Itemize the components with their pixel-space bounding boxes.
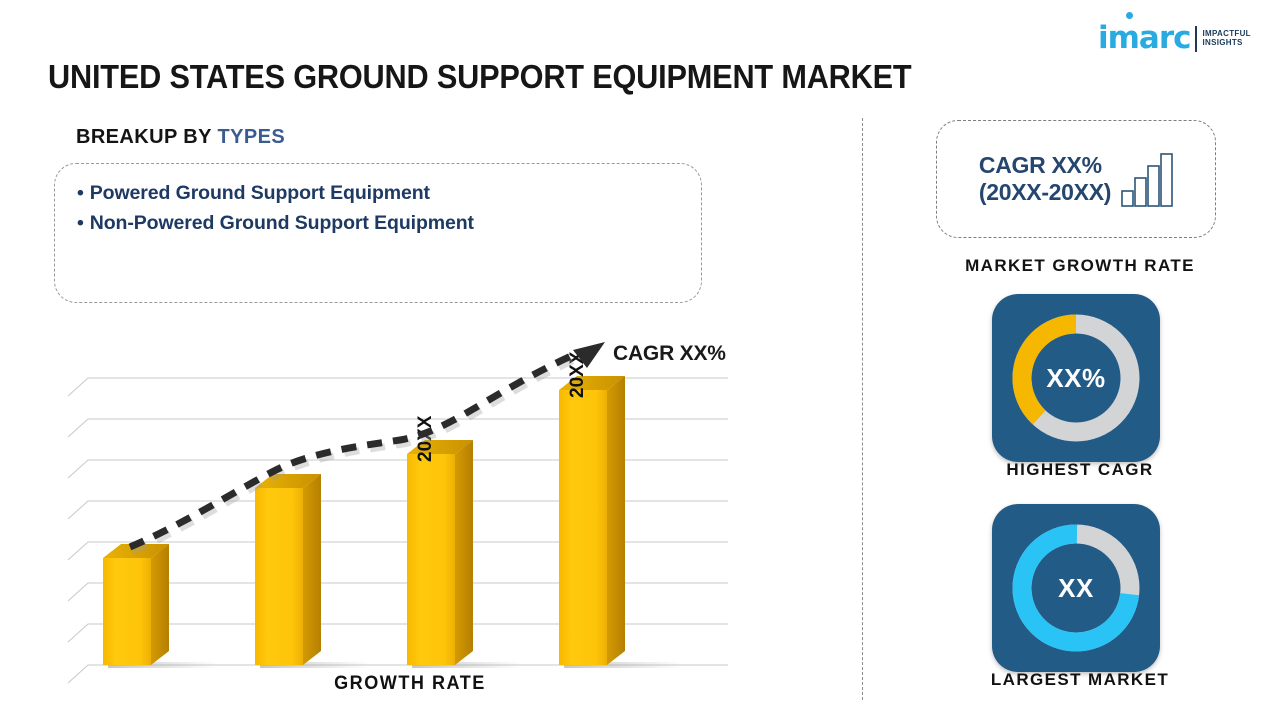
highest-cagr-label: HIGHEST CAGR xyxy=(880,460,1280,480)
chart-bar xyxy=(255,474,321,665)
types-list-box: •Powered Ground Support Equipment •Non-P… xyxy=(54,163,702,303)
highest-cagr-tile: XX% xyxy=(992,294,1160,462)
largest-market-value: XX xyxy=(992,504,1160,672)
cagr-card-text: CAGR XX% (20XX-20XX) xyxy=(979,152,1111,206)
market-growth-rate-label: MARKET GROWTH RATE xyxy=(880,256,1280,276)
largest-market-label: LARGEST MARKET xyxy=(880,670,1280,690)
chart-xlabel: GROWTH RATE xyxy=(78,673,743,695)
breakup-heading-static: BREAKUP BY xyxy=(76,126,217,148)
highest-cagr-value: XX% xyxy=(992,294,1160,462)
bullet-icon: • xyxy=(77,182,84,204)
page-title: UNITED STATES GROUND SUPPORT EQUIPMENT M… xyxy=(48,58,978,96)
cagr-card-line-2: (20XX-20XX) xyxy=(979,179,1111,206)
cagr-card: CAGR XX% (20XX-20XX) xyxy=(936,120,1216,238)
vertical-divider xyxy=(862,118,863,700)
list-item-label: Non-Powered Ground Support Equipment xyxy=(90,212,474,234)
chart-bar: 20XX xyxy=(559,351,625,665)
chart-svg: 20XX 20XX xyxy=(60,330,760,710)
chart-bar xyxy=(103,544,169,665)
bar-chart-icon xyxy=(1121,151,1173,207)
chart-bar: 20XX xyxy=(407,415,473,665)
breakup-heading: BREAKUP BY TYPES xyxy=(76,126,285,149)
list-item: •Powered Ground Support Equipment xyxy=(77,178,679,208)
cagr-card-line-1: CAGR XX% xyxy=(979,152,1111,179)
infographic-page: imarc IMPACTFUL INSIGHTS UNITED STATES G… xyxy=(0,0,1280,720)
breakup-heading-highlight: TYPES xyxy=(217,126,285,148)
list-item-label: Powered Ground Support Equipment xyxy=(90,182,430,204)
chart-trend-arrow xyxy=(130,342,605,551)
chart-cagr-annotation: CAGR XX% xyxy=(613,342,726,366)
right-panel: CAGR XX% (20XX-20XX) MARKET GROWTH RATE … xyxy=(880,0,1280,720)
list-item: •Non-Powered Ground Support Equipment xyxy=(77,208,679,238)
growth-rate-bar-chart: 20XX 20XX CAGR XX% GROWTH RATE xyxy=(60,330,760,710)
largest-market-tile: XX xyxy=(992,504,1160,672)
bullet-icon: • xyxy=(77,212,84,234)
